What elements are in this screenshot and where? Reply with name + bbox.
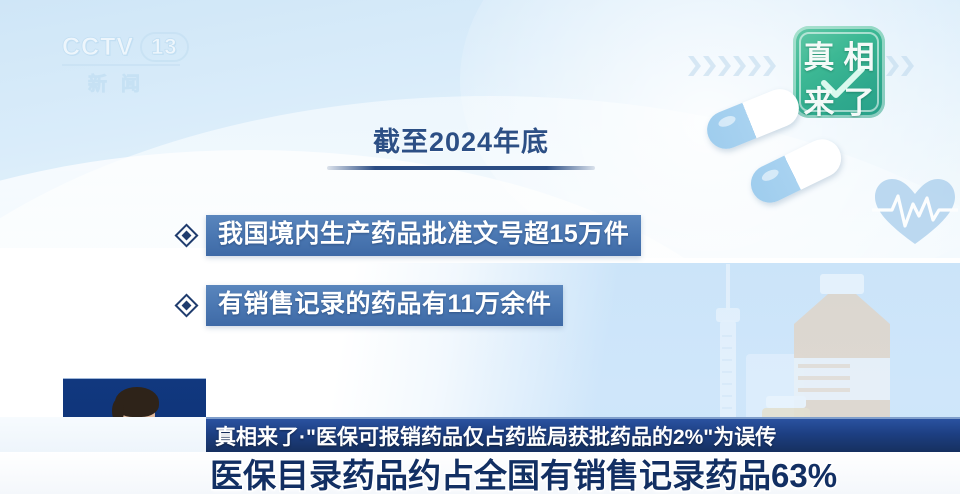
chevron-group-right: [886, 56, 914, 76]
cctv13-channel-logo: CCTV 13 新闻: [62, 32, 242, 102]
chevron-right-icon: [763, 56, 776, 76]
title-underline: [327, 166, 595, 170]
program-logo-char: 来: [804, 77, 835, 118]
list-item: 有销售记录的药品有11万余件: [178, 285, 563, 326]
slide-title-block: 截至2024年底: [336, 120, 586, 170]
list-item-label: 我国境内生产药品批准文号超15万件: [206, 215, 641, 256]
lower-third-statement-text: 医保目录药品约占全国有销售记录药品63%: [210, 449, 837, 494]
cctv-logo-underline: [62, 64, 180, 66]
cctv-wordmark: CCTV: [62, 33, 134, 62]
program-logo-badge: 真 相 来 了: [793, 26, 885, 118]
chevron-right-icon: [703, 56, 716, 76]
lower-third-left-filler: [0, 417, 206, 452]
chevron-right-icon: [718, 56, 731, 76]
chevron-right-icon: [733, 56, 746, 76]
list-item-label: 有销售记录的药品有11万余件: [206, 285, 563, 326]
medicine-bottles-syringe-illustration: [690, 262, 960, 442]
program-logo-characters: 真 相 来 了: [793, 26, 885, 118]
chevron-right-icon: [748, 56, 761, 76]
chevron-right-icon: [901, 56, 914, 76]
heart-ecg-icon: [872, 176, 958, 248]
chevron-group-left: [688, 56, 776, 76]
program-logo-char: 了: [844, 77, 875, 118]
chevron-right-icon: [688, 56, 701, 76]
check-icon: [821, 66, 865, 100]
cctv-channel-number: 13: [140, 32, 188, 62]
cctv-logo-row: CCTV 13: [62, 32, 242, 62]
page-title: 截至2024年底: [336, 120, 586, 159]
lower-third-statement: 医保目录药品约占全国有销售记录药品63%: [206, 452, 960, 494]
lower-third-headline-text: 真相来了·"医保可报销药品仅占药监局获批药品的2%"为误传: [215, 421, 776, 451]
diamond-bullet-icon: [174, 223, 198, 247]
lower-third-headline-bar: 真相来了·"医保可报销药品仅占药监局获批药品的2%"为误传: [206, 417, 960, 452]
diamond-bullet-icon: [174, 293, 198, 317]
program-logo-char: 真: [804, 32, 835, 77]
chevron-right-icon: [886, 56, 899, 76]
program-logo-char: 相: [844, 32, 875, 77]
list-item: 我国境内生产药品批准文号超15万件: [178, 215, 641, 256]
cctv-channel-cn-label: 新闻: [62, 69, 180, 96]
broadcast-screen: CCTV 13 新闻 真 相 来 了: [0, 0, 960, 494]
interpreter-hair: [115, 387, 159, 417]
